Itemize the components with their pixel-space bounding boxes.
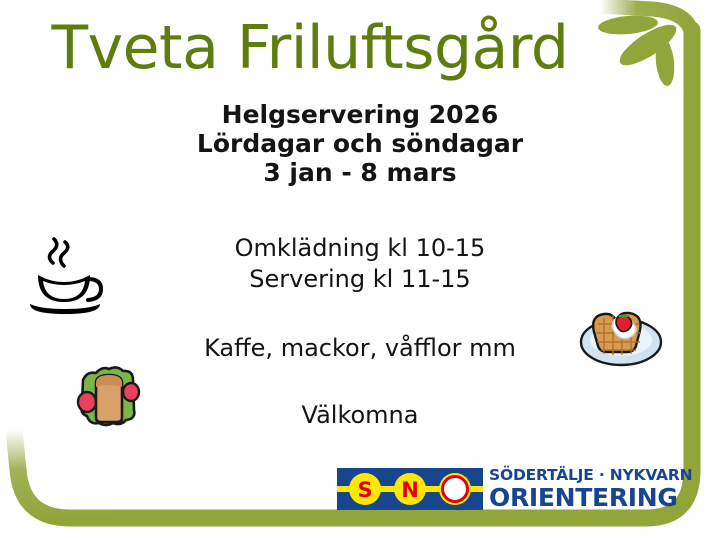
waffle-plate-icon bbox=[578, 302, 664, 368]
sandwich-tomato-right bbox=[123, 383, 139, 401]
coffee-cup-icon bbox=[22, 236, 108, 316]
leaf-icon-middle bbox=[614, 18, 681, 72]
frame-left-stroke bbox=[14, 430, 120, 518]
logo-letter-s: S bbox=[357, 478, 372, 502]
page-title: Tveta Friluftsgård bbox=[0, 18, 620, 78]
sno-logo-mark: S N bbox=[337, 468, 483, 510]
club-logo: S N SÖDERTÄLJE · NYKVARN ORIENTERING bbox=[337, 465, 659, 513]
dates-line-1: Helgservering 2026 bbox=[0, 100, 720, 129]
sandwich-tomato-left bbox=[78, 392, 96, 412]
dates-line-2: Lördagar och söndagar bbox=[0, 129, 720, 158]
poster-canvas: Tveta Friluftsgård Helgservering 2026 Lö… bbox=[0, 0, 720, 540]
logo-control-o-ring bbox=[443, 477, 468, 502]
waffle-strawberry bbox=[616, 315, 632, 331]
serving-dates-block: Helgservering 2026 Lördagar och söndagar… bbox=[0, 100, 720, 187]
opening-times-block: Omklädning kl 10-15 Servering kl 11-15 bbox=[0, 233, 720, 295]
times-line-2: Servering kl 11-15 bbox=[0, 264, 720, 295]
club-name-sport: ORIENTERING bbox=[489, 485, 692, 510]
club-name-region: SÖDERTÄLJE · NYKVARN bbox=[489, 468, 692, 484]
logo-letter-n: N bbox=[401, 478, 419, 502]
dates-line-3: 3 jan - 8 mars bbox=[0, 158, 720, 187]
coffee-cup-handle bbox=[88, 279, 101, 300]
club-logo-text: SÖDERTÄLJE · NYKVARN ORIENTERING bbox=[489, 468, 692, 510]
sandwich-icon bbox=[74, 366, 144, 432]
coffee-saucer bbox=[30, 304, 100, 314]
leaf-icon-lower bbox=[654, 37, 677, 87]
times-line-1: Omklädning kl 10-15 bbox=[0, 233, 720, 264]
